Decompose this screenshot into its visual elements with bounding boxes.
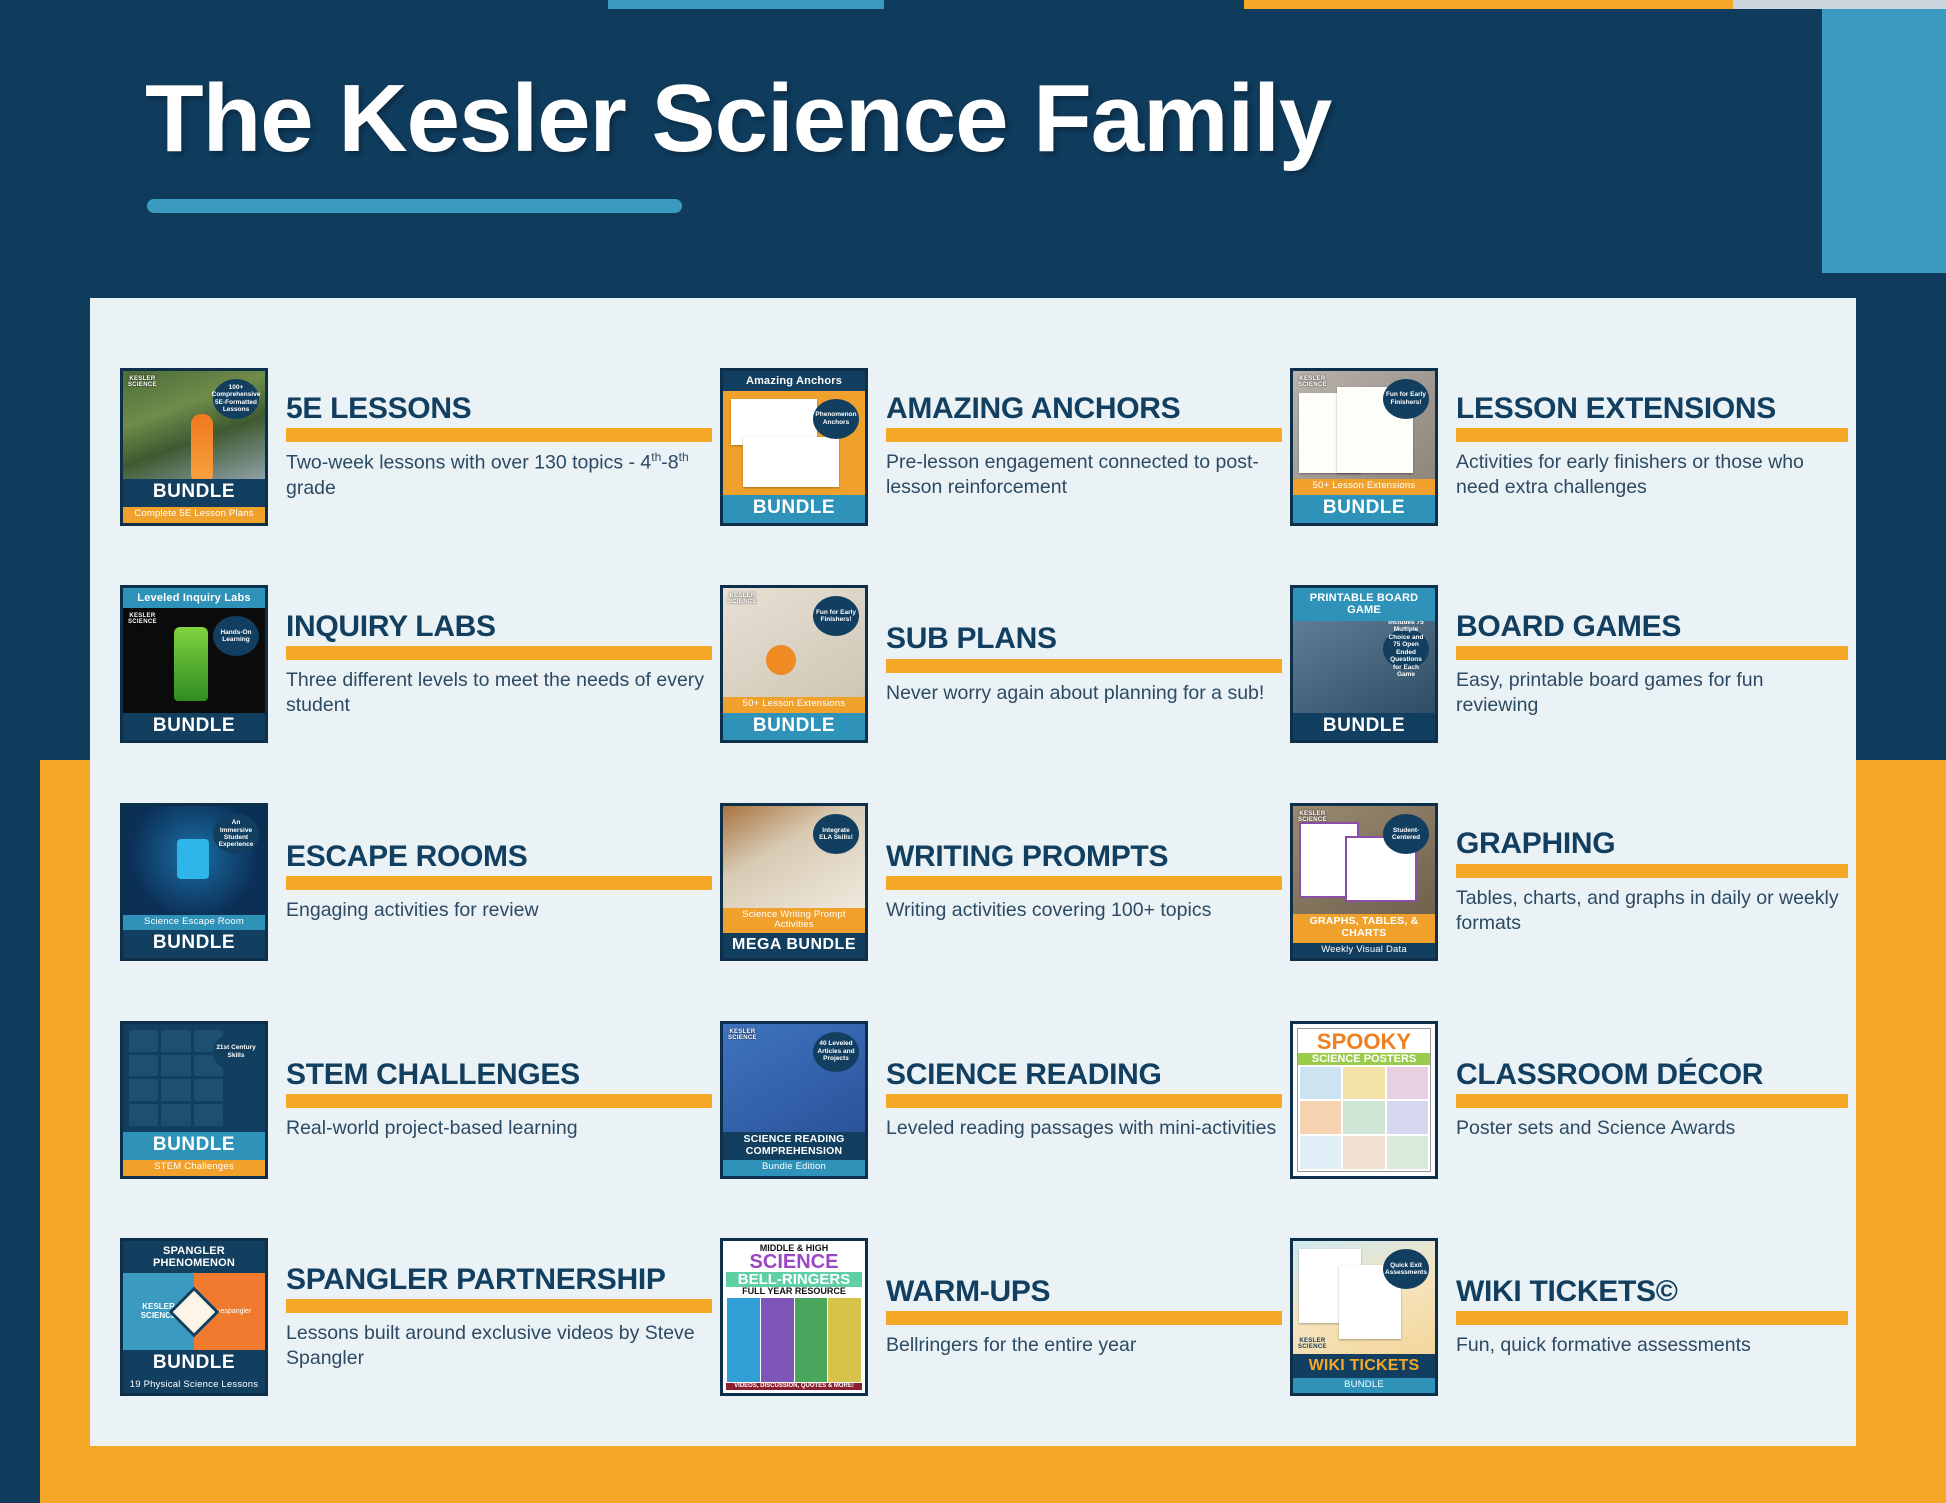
thumbnail-art: KESLERSCIENCE 40 Leveled Articles and Pr… bbox=[723, 1024, 865, 1132]
title-rule bbox=[286, 1299, 712, 1313]
thumbnail-sub-label: Science Escape Room bbox=[123, 915, 265, 930]
product-title: INQUIRY LABS bbox=[286, 611, 712, 642]
thumbnail-art: 21st Century Skills bbox=[123, 1024, 265, 1133]
thumbnail-badge: 100+ Comprehensive 5E-Formatted Lessons bbox=[213, 379, 259, 419]
thumbnail-top-label: PRINTABLE BOARD GAME bbox=[1293, 588, 1435, 620]
list-item[interactable]: SPANGLER PHENOMENON KESLERSCIENCE steves… bbox=[120, 1208, 720, 1426]
product-description: Tables, charts, and graphs in daily or w… bbox=[1456, 886, 1848, 936]
list-item[interactable]: An Immersive Student Experience Science … bbox=[120, 773, 720, 991]
product-description: Activities for early finishers or those … bbox=[1456, 450, 1848, 500]
product-title: WIKI TICKETS© bbox=[1456, 1276, 1848, 1307]
thumbnail-art: Integrate ELA Skills! bbox=[723, 806, 865, 908]
product-thumbnail[interactable]: KESLERSCIENCE Fun for Early Finishers! 5… bbox=[720, 585, 868, 743]
list-item[interactable]: KESLERSCIENCE 100+ Comprehensive 5E-Form… bbox=[120, 338, 720, 556]
product-text-block: BOARD GAMES Easy, printable board games … bbox=[1456, 611, 1848, 718]
list-item[interactable]: MIDDLE & HIGH SCIENCE BELL-RINGERS FULL … bbox=[720, 1208, 1290, 1426]
title-rule bbox=[1456, 864, 1848, 878]
thumbnail-bundle-label: BUNDLE bbox=[123, 1350, 265, 1378]
list-item[interactable]: KESLERSCIENCE Quick Exit Assessments WIK… bbox=[1290, 1208, 1856, 1426]
product-thumbnail[interactable]: MIDDLE & HIGH SCIENCE BELL-RINGERS FULL … bbox=[720, 1238, 868, 1396]
product-thumbnail[interactable]: Integrate ELA Skills! Science Writing Pr… bbox=[720, 803, 868, 961]
product-text-block: WIKI TICKETS© Fun, quick formative asses… bbox=[1456, 1276, 1848, 1358]
thumbnail-badge: 21st Century Skills bbox=[213, 1032, 259, 1072]
title-rule bbox=[1456, 646, 1848, 660]
product-grid: KESLERSCIENCE 100+ Comprehensive 5E-Form… bbox=[120, 338, 1826, 1426]
thumbnail-badge: Phenomenon Anchors bbox=[813, 399, 859, 439]
product-title: CLASSROOM DÉCOR bbox=[1456, 1059, 1848, 1090]
product-description: Fun, quick formative assessments bbox=[1456, 1333, 1848, 1358]
list-item[interactable]: Amazing Anchors Phenomenon Anchors BUNDL… bbox=[720, 338, 1290, 556]
product-thumbnail[interactable]: Amazing Anchors Phenomenon Anchors BUNDL… bbox=[720, 368, 868, 526]
list-item[interactable]: KESLERSCIENCE Fun for Early Finishers! 5… bbox=[1290, 338, 1856, 556]
thumbnail-sub-label: Science Writing Prompt Activities bbox=[723, 908, 865, 934]
thumbnail-bundle-label: BUNDLE bbox=[123, 1132, 265, 1160]
thumbnail-bundle-label: BUNDLE bbox=[123, 930, 265, 958]
title-rule bbox=[286, 1094, 712, 1108]
thumbnail-art: Phenomenon Anchors bbox=[723, 391, 865, 495]
product-description: Three different levels to meet the needs… bbox=[286, 668, 712, 718]
title-underline bbox=[147, 199, 682, 213]
thumbnail-art: MIDDLE & HIGH SCIENCE BELL-RINGERS FULL … bbox=[723, 1241, 865, 1393]
title-rule bbox=[1456, 428, 1848, 442]
thumbnail-badge: 40 Leveled Articles and Projects bbox=[813, 1032, 859, 1072]
thumbnail-art: KESLERSCIENCE stevespangler bbox=[123, 1273, 265, 1349]
top-strip-orange bbox=[1244, 0, 1733, 9]
thumbnail-sub-label: 50+ Lesson Extensions bbox=[1293, 479, 1435, 494]
product-text-block: WRITING PROMPTS Writing activities cover… bbox=[886, 841, 1282, 923]
thumbnail-bundle-label: BUNDLE bbox=[123, 713, 265, 741]
thumbnail-bundle-label: MEGA BUNDLE bbox=[723, 933, 865, 958]
title-rule bbox=[286, 646, 712, 660]
stem-icon-grid bbox=[129, 1030, 223, 1127]
thumbnail-badge: Quick Exit Assessments bbox=[1383, 1249, 1429, 1289]
product-thumbnail[interactable]: SPANGLER PHENOMENON KESLERSCIENCE steves… bbox=[120, 1238, 268, 1396]
product-title: 5E LESSONS bbox=[286, 393, 712, 424]
title-rule bbox=[286, 428, 712, 442]
kesler-logo-icon: KESLERSCIENCE bbox=[1298, 811, 1327, 823]
product-description: Writing activities covering 100+ topics bbox=[886, 898, 1282, 923]
kesler-logo-icon: KESLERSCIENCE bbox=[128, 376, 157, 388]
kesler-logo-icon: KESLERSCIENCE bbox=[728, 593, 757, 605]
thumbnail-art: KESLERSCIENCE Hands-On Learning bbox=[123, 608, 265, 712]
thumbnail-bundle-label: BUNDLE bbox=[123, 479, 265, 507]
product-thumbnail[interactable]: KESLERSCIENCE Student-Centered GRAPHS, T… bbox=[1290, 803, 1438, 961]
title-rule bbox=[1456, 1311, 1848, 1325]
list-item[interactable]: 21st Century Skills BUNDLE STEM Challeng… bbox=[120, 991, 720, 1209]
product-title: BOARD GAMES bbox=[1456, 611, 1848, 642]
thumbnail-sub-label: STEM Challenges bbox=[123, 1160, 265, 1175]
spooky-subtitle: SCIENCE POSTERS bbox=[1298, 1053, 1430, 1065]
title-rule bbox=[886, 876, 1282, 890]
thumbnail-sub-label: VIDEOS, DISCUSSION, QUOTES & MORE! bbox=[726, 1383, 862, 1390]
title-rule bbox=[886, 1094, 1282, 1108]
product-text-block: AMAZING ANCHORS Pre-lesson engagement co… bbox=[886, 393, 1282, 500]
thumbnail-badge: An Immersive Student Experience bbox=[213, 814, 259, 854]
thumbnail-art: KESLERSCIENCE Student-Centered bbox=[1293, 806, 1435, 914]
list-item[interactable]: KESLERSCIENCE Student-Centered GRAPHS, T… bbox=[1290, 773, 1856, 991]
list-item[interactable]: Integrate ELA Skills! Science Writing Pr… bbox=[720, 773, 1290, 991]
thumbnail-bundle-label: BUNDLE bbox=[1293, 713, 1435, 741]
product-title: GRAPHING bbox=[1456, 828, 1848, 859]
title-rule bbox=[886, 428, 1282, 442]
title-rule bbox=[886, 659, 1282, 673]
product-text-block: ESCAPE ROOMS Engaging activities for rev… bbox=[286, 841, 712, 923]
thumbnail-sub-label: Bundle Edition bbox=[723, 1160, 865, 1175]
navy-left-strip bbox=[0, 760, 40, 1503]
thumbnail-bundle-label: BUNDLE bbox=[723, 495, 865, 523]
thumbnail-badge: Fun for Early Finishers! bbox=[1383, 379, 1429, 419]
product-description: Pre-lesson engagement connected to post-… bbox=[886, 450, 1282, 500]
product-thumbnail[interactable]: KESLERSCIENCE Quick Exit Assessments WIK… bbox=[1290, 1238, 1438, 1396]
thumbnail-sub-label: Weekly Visual Data bbox=[1293, 943, 1435, 958]
poster-header: The Kesler Science Family bbox=[0, 9, 1822, 273]
product-description: Never worry again about planning for a s… bbox=[886, 681, 1282, 706]
product-thumbnail[interactable]: PRINTABLE BOARD GAME Includes 75 Multipl… bbox=[1290, 585, 1438, 743]
spooky-title: SPOOKY bbox=[1298, 1029, 1430, 1053]
top-strip-teal bbox=[608, 0, 884, 9]
product-text-block: INQUIRY LABS Three different levels to m… bbox=[286, 611, 712, 718]
thumbnail-art: An Immersive Student Experience bbox=[123, 806, 265, 915]
thumbnail-badge: Integrate ELA Skills! bbox=[813, 814, 859, 854]
thumbnail-art: Includes 75 Multiple Choice and 75 Open … bbox=[1293, 621, 1435, 713]
right-accent-block bbox=[1822, 9, 1946, 273]
product-title: SUB PLANS bbox=[886, 623, 1282, 654]
product-description: Two-week lessons with over 130 topics - … bbox=[286, 450, 712, 500]
thumbnail-badge: Includes 75 Multiple Choice and 75 Open … bbox=[1383, 629, 1429, 669]
thumbnail-sub-label: Complete 5E Lesson Plans bbox=[123, 507, 265, 522]
product-title: STEM CHALLENGES bbox=[286, 1059, 712, 1090]
thumbnail-art: KESLERSCIENCE Fun for Early Finishers! bbox=[723, 588, 865, 697]
product-text-block: SCIENCE READING Leveled reading passages… bbox=[886, 1059, 1282, 1141]
thumbnail-bundle-label: BUNDLE bbox=[1293, 495, 1435, 523]
thumbnail-art: SPOOKY SCIENCE POSTERS bbox=[1293, 1024, 1435, 1176]
thumbnail-bundle-label: WIKI TICKETS bbox=[1293, 1354, 1435, 1378]
kesler-logo-icon: KESLERSCIENCE bbox=[728, 1029, 757, 1041]
product-text-block: GRAPHING Tables, charts, and graphs in d… bbox=[1456, 828, 1848, 935]
product-title: ESCAPE ROOMS bbox=[286, 841, 712, 872]
list-item[interactable]: SPOOKY SCIENCE POSTERS CLASSROOM DÉCOR bbox=[1290, 991, 1856, 1209]
kesler-logo-icon: KESLERSCIENCE bbox=[1298, 1338, 1327, 1350]
product-text-block: CLASSROOM DÉCOR Poster sets and Science … bbox=[1456, 1059, 1848, 1141]
product-title: AMAZING ANCHORS bbox=[886, 393, 1282, 424]
content-card: KESLERSCIENCE 100+ Comprehensive 5E-Form… bbox=[90, 298, 1856, 1446]
product-description: Real-world project-based learning bbox=[286, 1116, 712, 1141]
product-thumbnail[interactable]: 21st Century Skills BUNDLE STEM Challeng… bbox=[120, 1021, 268, 1179]
thumbnail-sub-label: 50+ Lesson Extensions bbox=[723, 697, 865, 712]
product-title: SPANGLER PARTNERSHIP bbox=[286, 1264, 712, 1295]
list-item[interactable]: PRINTABLE BOARD GAME Includes 75 Multipl… bbox=[1290, 556, 1856, 774]
product-description: Poster sets and Science Awards bbox=[1456, 1116, 1848, 1141]
thumbnail-sub-label: 19 Physical Science Lessons bbox=[123, 1378, 265, 1393]
product-text-block: 5E LESSONS Two-week lessons with over 13… bbox=[286, 393, 712, 501]
thumbnail-badge: Fun for Early Finishers! bbox=[813, 596, 859, 636]
thumbnail-badge: Student-Centered bbox=[1383, 814, 1429, 854]
top-strip-light bbox=[1733, 0, 1946, 9]
list-item[interactable]: Leveled Inquiry Labs KESLERSCIENCE Hands… bbox=[120, 556, 720, 774]
product-title: LESSON EXTENSIONS bbox=[1456, 393, 1848, 424]
title-rule bbox=[1456, 1094, 1848, 1108]
product-thumbnail[interactable]: KESLERSCIENCE 40 Leveled Articles and Pr… bbox=[720, 1021, 868, 1179]
page-title: The Kesler Science Family bbox=[145, 64, 1331, 174]
thumbnail-bundle-label: GRAPHS, TABLES, & CHARTS bbox=[1293, 914, 1435, 942]
thumbnail-art: KESLERSCIENCE Quick Exit Assessments bbox=[1293, 1241, 1435, 1354]
thumbnail-top-label: Amazing Anchors bbox=[723, 371, 865, 391]
title-rule bbox=[886, 1311, 1282, 1325]
thumbnail-badge: Hands-On Learning bbox=[213, 616, 259, 656]
product-thumbnail[interactable]: An Immersive Student Experience Science … bbox=[120, 803, 268, 961]
product-description: Bellringers for the entire year bbox=[886, 1333, 1282, 1358]
product-text-block: SPANGLER PARTNERSHIP Lessons built aroun… bbox=[286, 1264, 712, 1371]
thumbnail-art: KESLERSCIENCE Fun for Early Finishers! bbox=[1293, 371, 1435, 480]
thumbnail-bundle-label: BUNDLE bbox=[723, 713, 865, 741]
product-thumbnail[interactable]: KESLERSCIENCE Fun for Early Finishers! 5… bbox=[1290, 368, 1438, 526]
product-title: WRITING PROMPTS bbox=[886, 841, 1282, 872]
poster-root: The Kesler Science Family KESLERSCIENCE … bbox=[0, 0, 1946, 1503]
kesler-logo-icon: KESLERSCIENCE bbox=[1298, 376, 1327, 388]
product-description: Leveled reading passages with mini-activ… bbox=[886, 1116, 1282, 1141]
product-text-block: LESSON EXTENSIONS Activities for early f… bbox=[1456, 393, 1848, 500]
product-title: SCIENCE READING bbox=[886, 1059, 1282, 1090]
product-thumbnail[interactable]: SPOOKY SCIENCE POSTERS bbox=[1290, 1021, 1438, 1179]
thumbnail-top-label: Leveled Inquiry Labs bbox=[123, 588, 265, 608]
thumbnail-art: KESLERSCIENCE 100+ Comprehensive 5E-Form… bbox=[123, 371, 265, 480]
list-item[interactable]: KESLERSCIENCE 40 Leveled Articles and Pr… bbox=[720, 991, 1290, 1209]
product-thumbnail[interactable]: KESLERSCIENCE 100+ Comprehensive 5E-Form… bbox=[120, 368, 268, 526]
thumbnail-bundle-label: SCIENCE READING COMPREHENSION bbox=[723, 1132, 865, 1160]
kesler-logo-icon: KESLERSCIENCE bbox=[128, 613, 157, 625]
thumbnail-sub-label: BUNDLE bbox=[1293, 1378, 1435, 1393]
product-description: Easy, printable board games for fun revi… bbox=[1456, 668, 1848, 718]
product-title: WARM-UPS bbox=[886, 1276, 1282, 1307]
product-description: Engaging activities for review bbox=[286, 898, 712, 923]
product-text-block: STEM CHALLENGES Real-world project-based… bbox=[286, 1059, 712, 1141]
product-description: Lessons built around exclusive videos by… bbox=[286, 1321, 712, 1371]
title-rule bbox=[286, 876, 712, 890]
product-thumbnail[interactable]: Leveled Inquiry Labs KESLERSCIENCE Hands… bbox=[120, 585, 268, 743]
thumbnail-top-label: SPANGLER PHENOMENON bbox=[123, 1241, 265, 1273]
list-item[interactable]: KESLERSCIENCE Fun for Early Finishers! 5… bbox=[720, 556, 1290, 774]
product-text-block: WARM-UPS Bellringers for the entire year bbox=[886, 1276, 1282, 1358]
product-text-block: SUB PLANS Never worry again about planni… bbox=[886, 623, 1282, 705]
